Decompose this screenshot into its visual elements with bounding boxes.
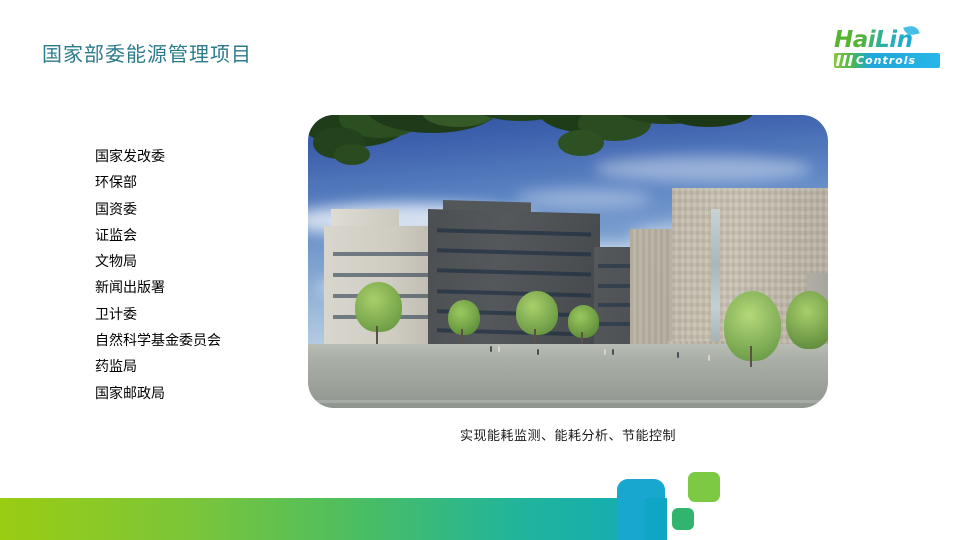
slide-root: 国家部委能源管理项目 HaiLin Controls 国家发改委 环保部 国资委… [0, 0, 960, 540]
tree-foliage [558, 130, 605, 156]
list-item: 证监会 [95, 223, 221, 249]
footer-gradient-bar [0, 498, 645, 540]
tree [355, 282, 402, 332]
logo-wordmark: HaiLin [834, 28, 913, 52]
tree [568, 305, 599, 337]
list-item: 自然科学基金委员会 [95, 328, 221, 354]
list-item: 环保部 [95, 170, 221, 196]
glass-strip [711, 209, 720, 350]
list-item: 药监局 [95, 354, 221, 380]
list-item: 卫计委 [95, 302, 221, 328]
ministry-list: 国家发改委 环保部 国资委 证监会 文物局 新闻出版署 卫计委 自然科学基金委员… [95, 144, 221, 407]
page-title: 国家部委能源管理项目 [42, 38, 252, 67]
photo-caption: 实现能耗监测、能耗分析、节能控制 [308, 425, 828, 444]
list-item: 国资委 [95, 197, 221, 223]
list-item: 国家邮政局 [95, 381, 221, 407]
decor-green-square-small [672, 508, 694, 530]
project-photo [308, 115, 828, 408]
list-item: 文物局 [95, 249, 221, 275]
list-item: 新闻出版署 [95, 275, 221, 301]
decor-teal-notch [645, 498, 667, 540]
logo-subtext: Controls [856, 54, 916, 67]
tree [724, 291, 781, 361]
tree [516, 291, 558, 335]
tree-foliage [334, 144, 370, 165]
tree [448, 300, 479, 335]
list-item: 国家发改委 [95, 144, 221, 170]
brand-logo: HaiLin Controls [830, 28, 942, 74]
decor-green-square-large [688, 472, 720, 502]
tree [786, 291, 828, 350]
